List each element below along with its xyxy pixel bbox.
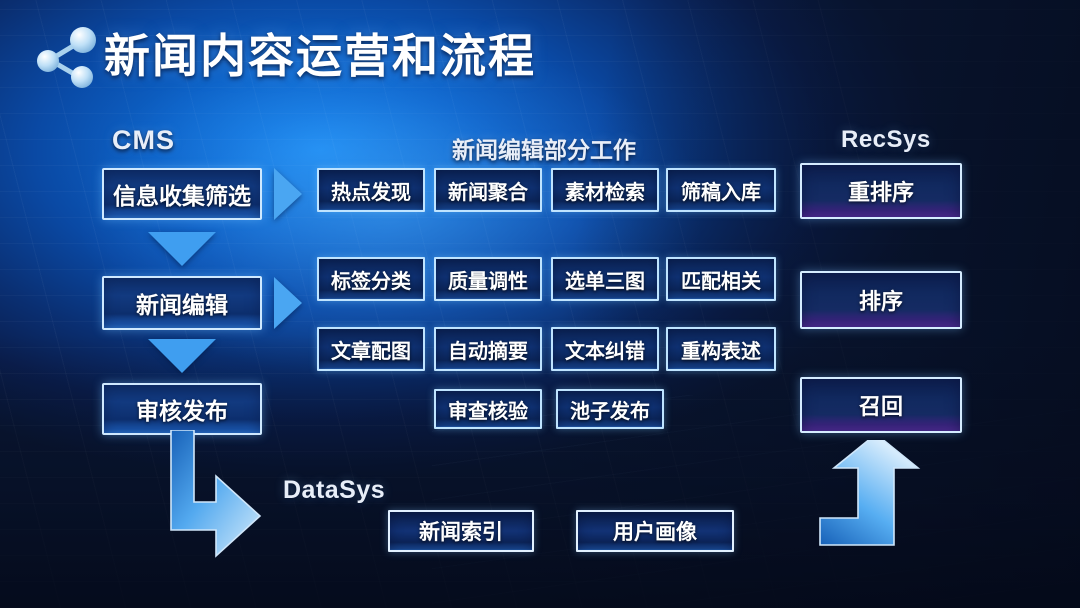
arrow-down-edit-to-publish [148,339,216,373]
node-editorial-restatement[interactable]: 重构表述 [666,327,776,371]
node-cms-publish[interactable]: 审核发布 [102,383,262,435]
node-editorial-tag-classify[interactable]: 标签分类 [317,257,425,301]
node-editorial-match-relevance[interactable]: 匹配相关 [666,257,776,301]
node-editorial-text-correction[interactable]: 文本纠错 [551,327,659,371]
node-datasys-news-index[interactable]: 新闻索引 [388,510,534,552]
arrow-down-collect-to-edit [148,232,216,266]
arrow-elbow-publish-to-datasys [150,430,280,560]
section-label-cms: CMS [112,125,175,156]
node-editorial-review-verify[interactable]: 审查核验 [434,389,542,429]
node-cms-collect[interactable]: 信息收集筛选 [102,168,262,220]
node-cms-edit[interactable]: 新闻编辑 [102,276,262,330]
node-recsys-rank[interactable]: 排序 [800,271,962,329]
node-editorial-pool-publish[interactable]: 池子发布 [556,389,664,429]
node-editorial-article-illustration[interactable]: 文章配图 [317,327,425,371]
node-editorial-hot-discovery[interactable]: 热点发现 [317,168,425,212]
node-editorial-three-image-selection[interactable]: 选单三图 [551,257,659,301]
node-recsys-rerank[interactable]: 重排序 [800,163,962,219]
node-editorial-draft-ingest[interactable]: 筛稿入库 [666,168,776,212]
node-editorial-news-aggregation[interactable]: 新闻聚合 [434,168,542,212]
section-label-recsys: RecSys [841,126,931,154]
page-title: 新闻内容运营和流程 [104,20,536,86]
node-editorial-material-retrieval[interactable]: 素材检索 [551,168,659,212]
slide-canvas: 新闻内容运营和流程 CMS 新闻编辑部分工作 RecSys DataSys 信息… [0,0,1080,608]
slide-header: 新闻内容运营和流程 [0,0,1080,104]
arrow-right-edit-to-editorial [274,277,302,329]
arrow-elbow-datasys-to-recall [810,440,950,570]
section-label-datasys: DataSys [283,476,385,505]
node-recsys-recall[interactable]: 召回 [800,377,962,433]
node-editorial-auto-summary[interactable]: 自动摘要 [434,327,542,371]
node-editorial-quality-tone[interactable]: 质量调性 [434,257,542,301]
arrow-right-collect-to-editorial [274,168,302,220]
share-network-icon [26,20,106,92]
section-label-editorial: 新闻编辑部分工作 [452,131,636,165]
node-datasys-user-profile[interactable]: 用户画像 [576,510,734,552]
